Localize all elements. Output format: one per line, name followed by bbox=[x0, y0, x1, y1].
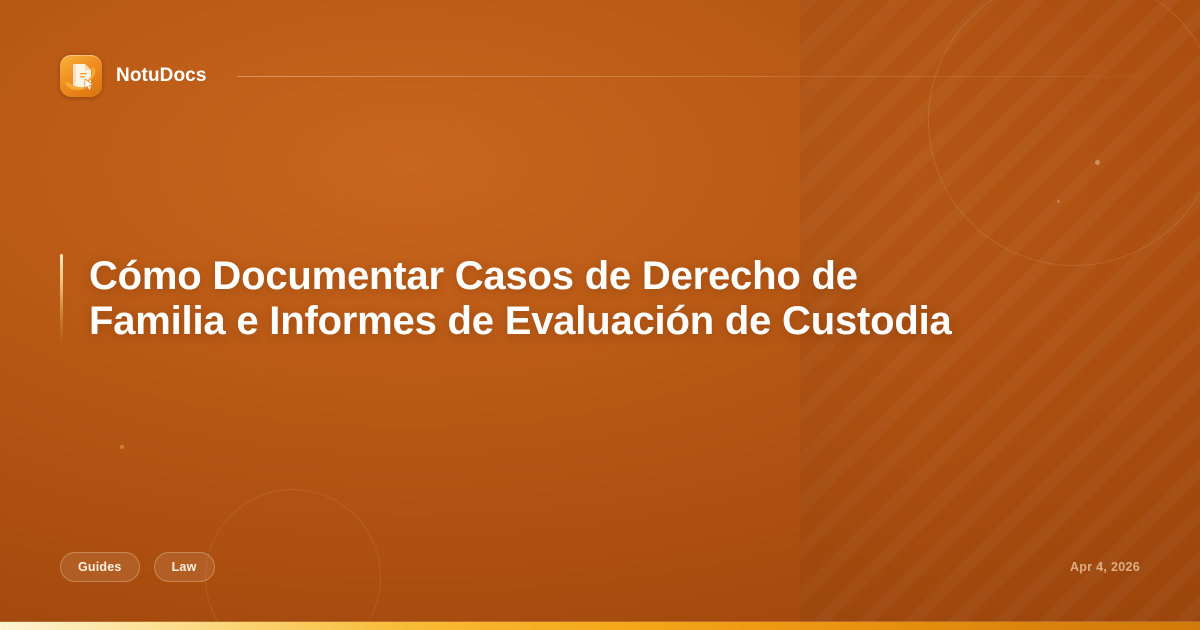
hero-title-block: Cómo Documentar Casos de Derecho de Fami… bbox=[60, 254, 1060, 344]
hero-footer: Guides Law Apr 4, 2026 bbox=[60, 552, 1140, 582]
brand-name: NotuDocs bbox=[116, 65, 207, 87]
hero-banner: NotuDocs Cómo Documentar Casos de Derech… bbox=[0, 0, 1200, 630]
decorative-dot-left bbox=[120, 445, 124, 449]
bottom-accent-bar bbox=[0, 622, 1200, 630]
page-title: Cómo Documentar Casos de Derecho de Fami… bbox=[89, 254, 999, 344]
decorative-dot-small bbox=[1057, 200, 1060, 203]
decorative-circle-top-right bbox=[928, 0, 1200, 266]
document-cursor-icon[interactable] bbox=[60, 55, 102, 97]
decorative-dot-large bbox=[1095, 160, 1100, 165]
publish-date: Apr 4, 2026 bbox=[1070, 560, 1140, 574]
tag-list: Guides Law bbox=[60, 552, 215, 582]
title-accent-bar bbox=[60, 254, 63, 344]
tag-law[interactable]: Law bbox=[154, 552, 215, 582]
brand-header: NotuDocs bbox=[60, 54, 1140, 98]
header-divider bbox=[237, 76, 1140, 77]
tag-guides[interactable]: Guides bbox=[60, 552, 140, 582]
